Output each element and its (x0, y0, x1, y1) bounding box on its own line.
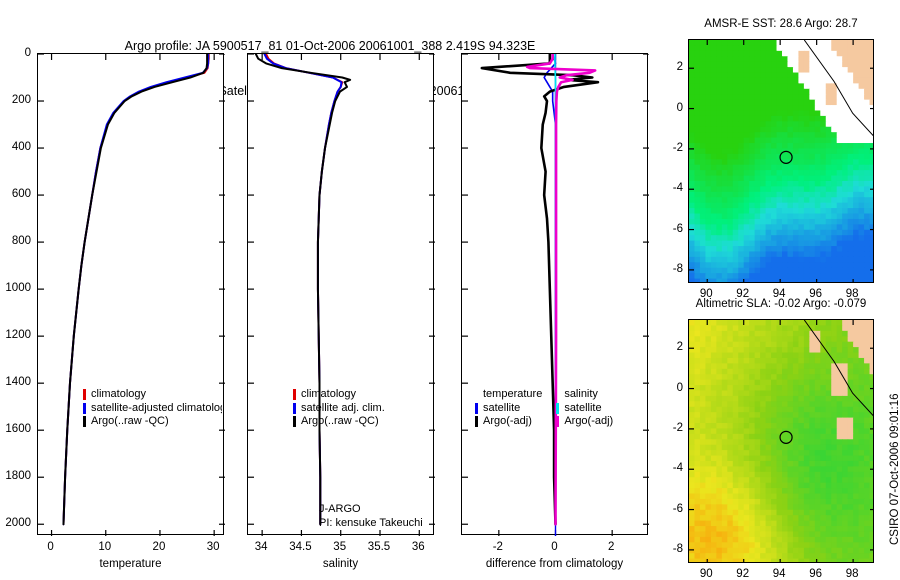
map-panel-sla (688, 319, 874, 563)
legend-item: Argo(..raw -QC) (83, 415, 222, 429)
credit-block: J-ARGOPI: kensuke Takeuchi (319, 503, 423, 530)
map-ytick: 0 (677, 102, 683, 114)
credit-line-1: J-ARGO (319, 503, 423, 517)
legend-label: satellite (564, 402, 601, 416)
map-ytick: -4 (673, 182, 683, 194)
map-title-sst: AMSR-E SST: 28.6 Argo: 28.7 (658, 18, 900, 30)
xtick-temperature: 20 (153, 541, 166, 553)
depth-tick-label: 400 (12, 141, 31, 153)
xtick-temperature: 10 (98, 541, 111, 553)
legend-color-swatch (293, 416, 296, 427)
map-xtick: 96 (809, 568, 822, 580)
map-xtick: 98 (846, 568, 859, 580)
legend-item: satellite adj. clim. (293, 402, 432, 416)
map-ytick: -2 (673, 422, 683, 434)
curves-temperature (38, 54, 225, 536)
depth-tick-label: 1200 (5, 329, 31, 341)
legend-color-swatch (293, 389, 296, 400)
legend-label: satellite (483, 402, 520, 416)
map-ytick: -8 (673, 263, 683, 275)
legend-label: satellite-adjusted climatology (91, 402, 222, 416)
xtick-difference: 2 (608, 541, 614, 553)
depth-tick-label: 2000 (5, 517, 31, 529)
map-ytick: -2 (673, 142, 683, 154)
map-ytick: -6 (673, 503, 683, 515)
legend-label: satellite adj. clim. (301, 402, 385, 416)
map-xtick: 94 (773, 568, 786, 580)
depth-tick-label: 1000 (5, 282, 31, 294)
legend-label: Argo(-adj) (564, 415, 613, 429)
depth-tick-label: 800 (12, 235, 31, 247)
legend-label: Argo(-adj) (483, 415, 532, 429)
map-ytick: 0 (677, 382, 683, 394)
legend-difference: temperaturesatelliteArgo(-adj)salinitysa… (475, 388, 613, 429)
map-xtick: 90 (700, 568, 713, 580)
legend-item: Argo(-adj) (556, 415, 613, 429)
legend-color-swatch (556, 403, 559, 414)
xtick-salinity: 34.5 (289, 541, 311, 553)
legend-color-swatch (83, 403, 86, 414)
map-panel-sst (688, 39, 874, 283)
xtick-salinity: 36 (412, 541, 425, 553)
map-raster-sla (689, 320, 874, 563)
map-ytick: -8 (673, 543, 683, 555)
legend-item: climatology (293, 388, 432, 402)
depth-tick-label: 1600 (5, 423, 31, 435)
legend-color-swatch (475, 403, 478, 414)
title-line-1: Argo profile: JA 5900517_81 01-Oct-2006 … (0, 39, 660, 54)
depth-tick-label: 600 (12, 188, 31, 200)
map-xtick: 92 (736, 568, 749, 580)
xtick-salinity: 34 (255, 541, 268, 553)
depth-tick-label: 0 (25, 47, 31, 59)
legend-item: climatology (83, 388, 222, 402)
legend-color-swatch (83, 389, 86, 400)
map-ytick: -4 (673, 462, 683, 474)
legend-column: temperaturesatelliteArgo(-adj) (475, 388, 542, 429)
xaxis-label-difference: difference from climatology (421, 558, 688, 570)
map-raster-sst (689, 40, 874, 283)
legend-item: Argo(-adj) (475, 415, 542, 429)
legend-column-header: temperature (475, 388, 542, 402)
legend-temperature: climatologysatellite-adjusted climatolog… (83, 388, 222, 429)
legend-column-header: salinity (556, 388, 613, 402)
legend-color-swatch (83, 416, 86, 427)
map-title-sla: Altimetric SLA: -0.02 Argo: -0.079 (658, 298, 900, 310)
legend-item: satellite (556, 402, 613, 416)
legend-color-swatch (475, 416, 478, 427)
csiro-timestamp: CSIRO 07-Oct-2006 09:01:16 (889, 394, 900, 546)
legend-label: Argo(..raw -QC) (301, 415, 379, 429)
legend-label: climatology (301, 388, 356, 402)
map-ytick: 2 (677, 341, 683, 353)
plot-panel-salinity (247, 53, 434, 535)
map-ytick: -6 (673, 223, 683, 235)
xtick-salinity: 35.5 (368, 541, 390, 553)
plot-panel-difference (461, 53, 648, 535)
credit-line-2: PI: kensuke Takeuchi (319, 517, 423, 531)
legend-item: satellite-adjusted climatology (83, 402, 222, 416)
depth-tick-label: 1800 (5, 470, 31, 482)
legend-salinity: climatologysatellite adj. clim.Argo(..ra… (293, 388, 432, 429)
curves-difference (462, 54, 649, 536)
legend-column: salinitysatelliteArgo(-adj) (556, 388, 613, 429)
xtick-salinity: 35 (333, 541, 346, 553)
legend-color-swatch (293, 403, 296, 414)
legend-item: satellite (475, 402, 542, 416)
xtick-temperature: 0 (47, 541, 53, 553)
depth-tick-label: 1400 (5, 376, 31, 388)
depth-tick-label: 200 (12, 94, 31, 106)
legend-color-swatch (556, 416, 559, 427)
legend-label: Argo(..raw -QC) (91, 415, 169, 429)
curves-salinity (248, 54, 435, 536)
xtick-difference: -2 (493, 541, 503, 553)
legend-label: climatology (91, 388, 146, 402)
plot-panel-temperature (37, 53, 224, 535)
xtick-difference: 0 (551, 541, 557, 553)
legend-item: Argo(..raw -QC) (293, 415, 432, 429)
map-ytick: 2 (677, 61, 683, 73)
xtick-temperature: 30 (207, 541, 220, 553)
